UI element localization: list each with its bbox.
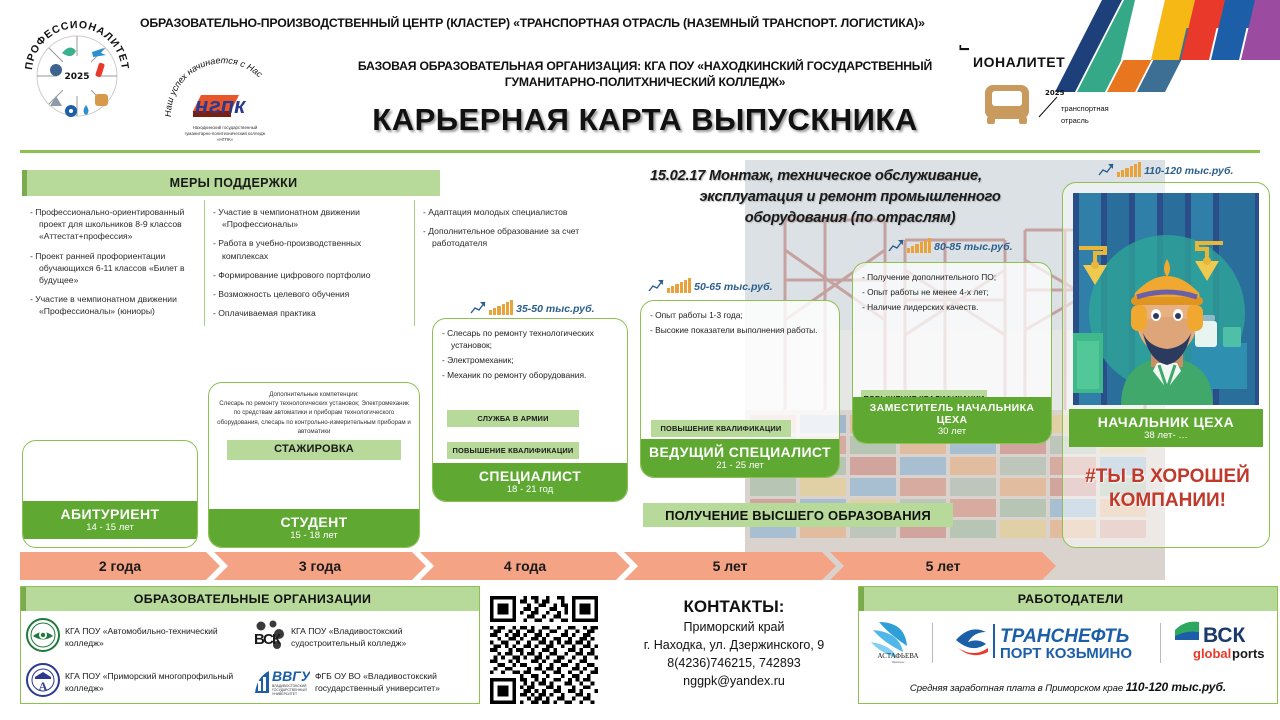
header-divider (20, 150, 1260, 153)
employers-panel: РАБОТОДАТЕЛИ АСТАФЬЕВА Приморье (858, 586, 1278, 704)
salary-value: 80-85 тыс.руб. (934, 241, 1012, 253)
contacts-line: Приморский край (610, 618, 858, 636)
svg-text:гуманитарно-политехнический ко: гуманитарно-политехнический колледж (185, 131, 266, 136)
stage-name: НАЧАЛЬНИК ЦЕХА (1071, 414, 1261, 430)
contacts-title: КОНТАКТЫ: (610, 596, 858, 618)
astafieva-logo-icon[interactable]: АСТАФЬЕВА Приморье (863, 616, 932, 671)
svg-text:ТРАНСНЕФТЬ: ТРАНСНЕФТЬ (1000, 626, 1129, 647)
atk-logo-icon (26, 618, 60, 657)
svg-text:УНИВЕРСИТЕТ: УНИВЕРСИТЕТ (272, 692, 297, 696)
list-item[interactable]: КГА ПОУ «Автомобильно-технический коллед… (24, 615, 250, 660)
support-column-2: - Участие в чемпионатном движении «Профе… (204, 200, 414, 326)
base-org-line-1: БАЗОВАЯ ОБРАЗОВАТЕЛЬНАЯ ОРГАНИЗАЦИЯ: КГА… (300, 58, 990, 74)
stage-card-student[interactable]: Дополнительные компетенции: Слесарь по р… (208, 382, 420, 548)
base-org-line-2: ГУМАНИТАРНО-ПОЛИТХНИЧЕСКИЙ КОЛЛЕДЖ» (300, 74, 990, 90)
svg-text:Находкинский государственный: Находкинский государственный (193, 125, 258, 130)
svg-text:ВСК: ВСК (1203, 624, 1246, 647)
support-item: - Возможность целевого обучения (213, 288, 406, 300)
timeline-segment: 3 года (214, 552, 426, 580)
contacts-line: 8(4236)746215, 742893 (610, 654, 858, 672)
stage-card-deputy-head[interactable]: - Получение дополнительного ПО; - Опыт р… (852, 262, 1052, 444)
education-org-name: КГА ПОУ «Автомобильно-технический коллед… (65, 626, 248, 649)
logo-divider (932, 623, 949, 663)
stage-card-lead-specialist[interactable]: - Опыт работы 1-3 года; - Высокие показа… (640, 300, 840, 478)
timeline-segment: 5 лет (830, 552, 1056, 580)
slogan-line-2: КОМПАНИИ! (1065, 489, 1270, 513)
svg-text:«НГПК»: «НГПК» (217, 137, 234, 142)
stage-label-student: СТУДЕНТ 15 - 18 лет (209, 509, 419, 547)
stage-age: 15 - 18 лет (211, 530, 417, 541)
bar-chart-icon (1117, 162, 1141, 177)
stage-age: 38 лет- … (1071, 430, 1261, 441)
requirement-item: - Слесарь по ремонту технологических уст… (442, 327, 618, 351)
stage-label-lead-specialist: ВЕДУЩИЙ СПЕЦИАЛИСТ 21 - 25 лет (641, 439, 839, 477)
stage-age: 30 лет (855, 426, 1049, 437)
requirement-item: - Механик по ремонту оборудования. (442, 369, 618, 381)
stage-name: АБИТУРИЕНТ (25, 506, 195, 522)
pill-qualification-upgrade[interactable]: ПОВЫШЕНИЕ КВАЛИФИКАЦИИ (651, 420, 791, 438)
pill-qualification-upgrade[interactable]: ПОВЫШЕНИЕ КВАЛИФИКАЦИИ (447, 442, 579, 460)
education-org-name: ФГБ ОУ ВО «Владивостокский государственн… (315, 671, 474, 694)
student-note-title: Дополнительные компетенции: (216, 390, 412, 399)
bar-chart-icon (667, 278, 691, 293)
requirement-item: - Наличие лидерских качеств. (862, 301, 1042, 313)
requirement-item: - Получение дополнительного ПО; (862, 271, 1042, 283)
list-item[interactable]: А КГА ПОУ «Приморский многопрофильный ко… (24, 660, 250, 705)
stage-age: 21 - 25 лет (643, 460, 837, 471)
stage-name: ВЕДУЩИЙ СПЕЦИАЛИСТ (643, 444, 837, 460)
svg-text:А: А (39, 679, 48, 693)
education-org-name: КГА ПОУ «Владивостокский судостроительны… (291, 626, 474, 649)
svg-text:Приморье: Приморье (891, 660, 905, 664)
professionalitet-left-logo: 2025 ПРОФЕССИОНАЛИТЕТ (12, 8, 142, 138)
stage-label-deputy-head: ЗАМЕСТИТЕЛЬ НАЧАЛЬНИКА ЦЕХА 30 лет (853, 397, 1051, 443)
pmk-logo-icon: А (26, 663, 60, 702)
contacts-line: г. Находка, ул. Дзержинского, 9 (610, 636, 858, 654)
salary-value: 110-120 тыс.руб. (1144, 165, 1233, 177)
svg-text:global: global (1193, 646, 1231, 661)
timeline-segment: 4 года (420, 552, 630, 580)
svg-text:ports: ports (1232, 646, 1265, 661)
timeline-segment: 5 лет (624, 552, 836, 580)
svg-text:транспортная: транспортная (1061, 104, 1109, 113)
qr-code[interactable] (490, 596, 598, 704)
support-item: - Дополнительное образование за счет раб… (423, 225, 624, 249)
education-organizations-list: КГА ПОУ «Автомобильно-технический коллед… (21, 611, 479, 709)
cluster-title: ОБРАЗОВАТЕЛЬНО-ПРОИЗВОДСТВЕННЫЙ ЦЕНТР (К… (140, 16, 1140, 30)
vsk-logo-icon: ВСК (252, 618, 286, 657)
support-item: - Оплачиваемая практика (213, 307, 406, 319)
specialty-title: 15.02.17 Монтаж, техническое обслуживани… (640, 166, 1060, 229)
salary-badge-specialist: 35-50 тыс.руб. (470, 300, 595, 315)
vsk-globalports-logo-icon[interactable]: ВСК global ports (1173, 616, 1273, 671)
svg-text:ПРОФЕСС: ПРОФЕСС (956, 45, 972, 51)
average-salary-note: Средняя заработная плата в Приморском кр… (859, 680, 1277, 694)
salary-badge-deputy-head: 80-85 тыс.руб. (888, 238, 1013, 253)
svg-text:гпк: гпк (209, 93, 247, 118)
stage-label-specialist: СПЕЦИАЛИСТ 18 - 21 год (433, 463, 627, 501)
support-item: - Проект ранней профориентации обучающих… (30, 250, 196, 287)
education-organizations-panel: ОБРАЗОВАТЕЛЬНЫЕ ОРГАНИЗАЦИИ КГА ПОУ «Авт… (20, 586, 480, 704)
stage-label-abiturient: АБИТУРИЕНТ 14 - 15 лет (23, 501, 197, 539)
specialty-line-2: эксплуатация и ремонт промышленного (640, 187, 1060, 208)
support-item: - Формирование цифрового портфолио (213, 269, 406, 281)
slogan-line-1: #ТЫ В ХОРОШЕЙ (1065, 465, 1270, 489)
svg-text:АСТАФЬЕВА: АСТАФЬЕВА (877, 652, 918, 660)
slogan: #ТЫ В ХОРОШЕЙ КОМПАНИИ! (1065, 465, 1270, 513)
growth-arrow-icon (888, 238, 904, 253)
list-item[interactable]: ВВГУВЛАДИВОСТОКСКИЙГОСУДАРСТВЕННЫЙУНИВЕР… (250, 660, 476, 705)
page-title: КАРЬЕРНАЯ КАРТА ВЫПУСКНИКА (300, 102, 990, 138)
logo-divider (1160, 623, 1173, 663)
transneft-logo-icon[interactable]: ТРАНСНЕФТЬ ПОРТ КОЗЬМИНО (950, 616, 1160, 671)
svg-text:ПОРТ КОЗЬМИНО: ПОРТ КОЗЬМИНО (1000, 645, 1132, 662)
employers-logos: АСТАФЬЕВА Приморье ТРАНСНЕФТЬ ПОРТ КОЗЬМ… (863, 615, 1273, 671)
ngpk-logo: Наш успех начинается с Нас н гпк Находки… (165, 55, 285, 145)
employers-header: РАБОТОДАТЕЛИ (859, 587, 1277, 611)
stage-name: ЗАМЕСТИТЕЛЬ НАЧАЛЬНИКА ЦЕХА (855, 402, 1049, 426)
stage-name: СПЕЦИАЛИСТ (435, 468, 625, 484)
contacts-email[interactable]: nggpk@yandex.ru (610, 672, 858, 690)
list-item[interactable]: ВСК КГА ПОУ «Владивостокский судостроите… (250, 615, 476, 660)
stage-label-head-of-shop: НАЧАЛЬНИК ЦЕХА 38 лет- … (1069, 409, 1263, 447)
average-salary-text: Средняя заработная плата в Приморском кр… (910, 683, 1126, 694)
specialty-line-3: оборудования (по отраслям) (640, 208, 1060, 229)
vvgu-logo-icon: ВВГУВЛАДИВОСТОКСКИЙГОСУДАРСТВЕННЫЙУНИВЕР… (252, 663, 310, 702)
support-item: - Участие в чемпионатном движении «Профе… (30, 293, 196, 317)
svg-text:К: К (272, 631, 282, 648)
pill-internship[interactable]: СТАЖИРОВКА (227, 440, 401, 460)
average-salary-value: 110-120 тыс.руб. (1126, 680, 1226, 694)
engineer-illustration (1073, 193, 1259, 405)
education-org-name: КГА ПОУ «Приморский многопрофильный колл… (65, 671, 248, 694)
svg-text:ВВГУ: ВВГУ (272, 668, 310, 684)
timeline-segment: 2 года (20, 552, 220, 580)
stage-name: СТУДЕНТ (211, 514, 417, 530)
requirement-item: - Опыт работы не менее 4-х лет; (862, 286, 1042, 298)
growth-arrow-icon (1098, 162, 1114, 177)
bar-chart-icon (489, 300, 513, 315)
support-item: - Участие в чемпионатном движении «Профе… (213, 206, 406, 230)
salary-badge-head-of-shop: 110-120 тыс.руб. (1098, 162, 1233, 177)
requirement-item: - Высокие показатели выполнения работы. (650, 324, 830, 336)
stage-age: 18 - 21 год (435, 484, 625, 495)
stage-card-specialist[interactable]: - Слесарь по ремонту технологических уст… (432, 318, 628, 502)
stage-age: 14 - 15 лет (25, 522, 195, 533)
specialty-line-1: 15.02.17 Монтаж, техническое обслуживани… (640, 166, 1060, 187)
support-item: - Адаптация молодых специалистов (423, 206, 624, 218)
pill-army-service[interactable]: СЛУЖБА В АРМИИ (447, 410, 579, 428)
support-measures-header: МЕРЫ ПОДДЕРЖКИ (22, 170, 440, 196)
support-item: - Работа в учебно-производственных компл… (213, 237, 406, 261)
contacts-text: КОНТАКТЫ: Приморский край г. Находка, ул… (610, 596, 858, 690)
salary-value: 50-65 тыс.руб. (694, 281, 772, 293)
base-organization-title: БАЗОВАЯ ОБРАЗОВАТЕЛЬНАЯ ОРГАНИЗАЦИЯ: КГА… (300, 58, 990, 90)
svg-text:отрасль: отрасль (1061, 116, 1089, 125)
growth-arrow-icon (648, 278, 664, 293)
support-column-1: - Профессионально-ориентированный проект… (22, 200, 204, 326)
salary-badge-lead-specialist: 50-65 тыс.руб. (648, 278, 773, 293)
requirement-item: - Электромеханик; (442, 354, 618, 366)
higher-education-bar: ПОЛУЧЕНИЕ ВЫСШЕГО ОБРАЗОВАНИЯ (643, 503, 953, 527)
bar-chart-icon (907, 238, 931, 253)
requirement-item: - Опыт работы 1-3 года; (650, 309, 830, 321)
svg-text:н: н (195, 93, 208, 118)
svg-text:2025: 2025 (64, 72, 89, 82)
support-item: - Профессионально-ориентированный проект… (30, 206, 196, 243)
career-map-poster: 2025 ПРОФЕССИОНАЛИТЕТ Наш успех начинает… (0, 0, 1280, 720)
salary-value: 35-50 тыс.руб. (516, 303, 594, 315)
education-organizations-header: ОБРАЗОВАТЕЛЬНЫЕ ОРГАНИЗАЦИИ (21, 587, 479, 611)
student-note-body: Слесарь по ремонту технологических устан… (216, 399, 412, 436)
growth-arrow-icon (470, 300, 486, 315)
stage-card-abiturient[interactable]: АБИТУРИЕНТ 14 - 15 лет (22, 440, 198, 548)
svg-text:2025: 2025 (1045, 89, 1065, 97)
